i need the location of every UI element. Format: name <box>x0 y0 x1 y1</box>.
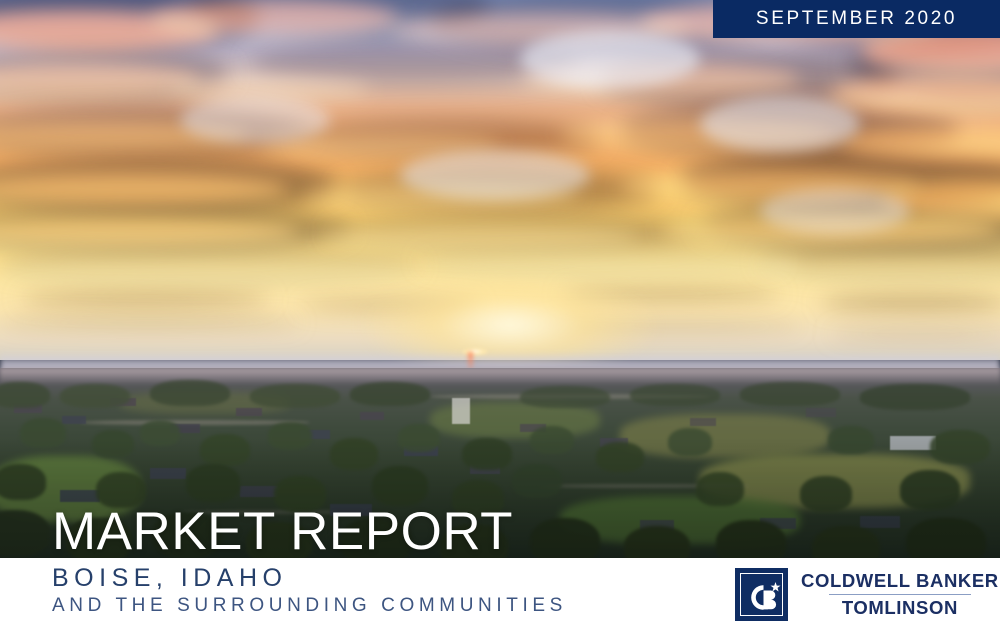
tree <box>150 380 230 406</box>
market-report-cover-page: SEPTEMBER 2020 MARKET REPORT BOISE, IDAH… <box>0 0 1000 640</box>
tree <box>520 386 610 408</box>
rooftop <box>690 418 716 426</box>
rooftop <box>806 408 836 417</box>
cloud-gap <box>400 150 590 200</box>
hero-sunset-aerial-photo <box>0 0 1000 558</box>
rooftop <box>360 412 384 420</box>
cloud-streak <box>830 330 1000 338</box>
date-banner: SEPTEMBER 2020 <box>713 0 1000 38</box>
date-banner-label: SEPTEMBER 2020 <box>756 8 957 30</box>
distant-city-band <box>0 368 1000 384</box>
page-title: MARKET REPORT <box>52 505 672 559</box>
tree <box>60 384 130 408</box>
cloud-gap <box>700 96 860 152</box>
title-block: MARKET REPORT BOISE, IDAHO AND THE SURRO… <box>52 505 672 616</box>
logo-brand-name: COLDWELL BANKER <box>801 570 999 592</box>
cloud-gap <box>520 30 700 88</box>
cloud-highlight <box>150 0 400 38</box>
tree <box>630 384 720 406</box>
cloud-highlight <box>320 224 640 250</box>
cloud-highlight <box>0 258 420 282</box>
tree <box>860 384 970 410</box>
cloud-streak <box>0 318 300 327</box>
tree <box>740 382 840 406</box>
coldwell-banker-tomlinson-logo: COLDWELL BANKER TOMLINSON <box>735 568 999 621</box>
rooftop <box>62 416 86 424</box>
cb-monogram-glyph <box>738 571 791 624</box>
page-subtitle-location: BOISE, IDAHO <box>52 565 672 592</box>
cb-star-monogram-icon <box>735 568 788 621</box>
tree <box>350 382 430 406</box>
cloud-streak <box>820 296 1000 310</box>
church-steeple <box>452 398 470 424</box>
page-subtitle-communities: AND THE SURROUNDING COMMUNITIES <box>52 595 672 616</box>
cloud-gap <box>760 188 910 234</box>
logo-divider <box>829 594 971 596</box>
cloud-streak <box>20 292 270 305</box>
logo-affiliate-name: TOMLINSON <box>801 597 999 619</box>
rooftop <box>236 408 262 416</box>
sun-disc <box>462 348 488 355</box>
logo-wordmark: COLDWELL BANKER TOMLINSON <box>801 570 999 620</box>
cloud-gap <box>180 96 330 144</box>
tree <box>0 382 50 408</box>
tree <box>250 384 340 408</box>
